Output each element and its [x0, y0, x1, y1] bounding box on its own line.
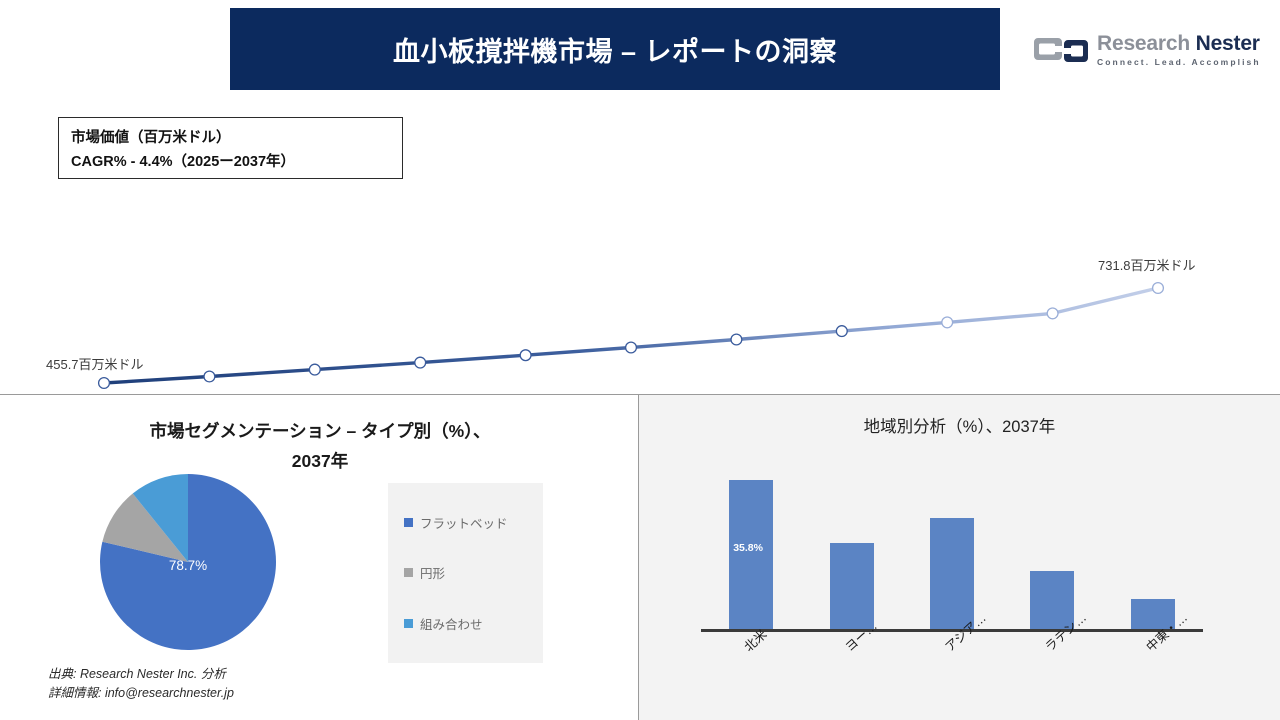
source-line-1: 出典: Research Nester Inc. 分析: [48, 665, 234, 684]
line-marker: [520, 350, 531, 361]
line-chart-svg: [0, 92, 1280, 394]
pie-title-line2: 2037年: [292, 451, 348, 471]
bar-chart-plot: 35.8%: [701, 480, 1203, 630]
logo-tagline: Connect. Lead. Accomplish: [1097, 58, 1261, 67]
market-value-line-chart: 市場価値（百万米ドル） CAGR% - 4.4%（2025ー2037年） 455…: [0, 92, 1280, 394]
pie-legend-label: フラットベッド: [420, 513, 508, 532]
source-note: 出典: Research Nester Inc. 分析 詳細情報: info@r…: [48, 665, 234, 704]
bar-chart-x-axis-labels: 北米ヨー…アジア…ラテン…中東・…: [701, 633, 1203, 703]
pie-legend-label: 円形: [420, 563, 445, 582]
logo-name-research: Research: [1097, 32, 1196, 55]
line-marker: [942, 317, 953, 328]
logo-name-nester: Nester: [1196, 32, 1260, 55]
logo-text: Research Nester Connect. Lead. Accomplis…: [1097, 33, 1261, 67]
pie-chart-title: 市場セグメンテーション – タイプ別（%）、 2037年: [30, 417, 610, 477]
line-marker: [731, 334, 742, 345]
line-marker: [836, 326, 847, 337]
logo-mark-icon: [1034, 32, 1088, 68]
legend-swatch-icon: [404, 568, 413, 577]
legend-swatch-icon: [404, 619, 413, 628]
bar-chart-title: 地域別分析（%）、2037年: [639, 413, 1280, 437]
pie-slice-label-flatbed: 78.7%: [98, 558, 278, 573]
legend-swatch-icon: [404, 518, 413, 527]
line-marker: [1047, 308, 1058, 319]
report-page: 血小板撹拌機市場 – レポートの洞察 Research Nester Conne…: [0, 0, 1280, 720]
page-title: 血小板撹拌機市場 – レポートの洞察: [393, 30, 837, 69]
regional-analysis-bar-panel: 地域別分析（%）、2037年 35.8% 北米ヨー…アジア…ラテン…中東・…: [639, 395, 1280, 720]
pie-legend-label: 組み合わせ: [420, 614, 483, 633]
header-banner: 血小板撹拌機市場 – レポートの洞察: [230, 8, 1000, 90]
bar-value-label: 35.8%: [733, 542, 763, 554]
source-line-2: 詳細情報: info@researchnester.jp: [48, 684, 234, 703]
research-nester-logo: Research Nester Connect. Lead. Accomplis…: [1034, 22, 1254, 78]
bar[interactable]: [729, 480, 773, 630]
pie-title-line1: 市場セグメンテーション – タイプ別（%）、: [150, 421, 491, 441]
line-marker: [204, 371, 215, 382]
pie-chart-legend: フラットベッド円形組み合わせ: [388, 483, 543, 663]
line-marker: [415, 357, 426, 368]
logo-name: Research Nester: [1097, 33, 1261, 54]
pie-legend-item[interactable]: 円形: [404, 563, 543, 582]
line-end-value-label: 731.8百万米ドル: [1098, 255, 1196, 274]
line-start-value-label: 455.7百万米ドル: [46, 354, 144, 373]
pie-legend-item[interactable]: 組み合わせ: [404, 614, 543, 633]
bar[interactable]: [930, 518, 974, 630]
line-marker: [309, 364, 320, 375]
pie-legend-item[interactable]: フラットベッド: [404, 513, 543, 532]
line-marker: [1153, 283, 1164, 294]
line-marker: [99, 378, 110, 389]
segmentation-pie-panel: 市場セグメンテーション – タイプ別（%）、 2037年 78.7% フラットベ…: [0, 395, 638, 720]
line-marker: [626, 342, 637, 353]
